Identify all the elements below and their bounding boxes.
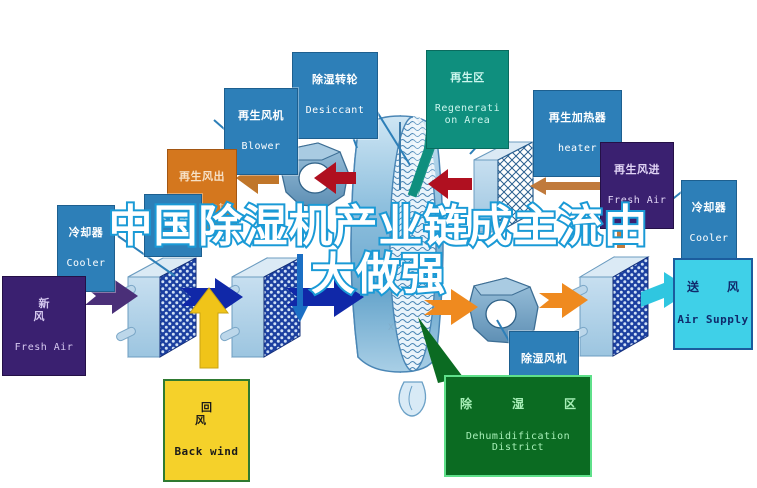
label-regen-fresh-air-cn: 再生风进 xyxy=(601,164,673,177)
label-regen-area-cn: 再生区 xyxy=(427,72,508,85)
cooler-unit-mid xyxy=(219,258,300,357)
label-fresh-air-in[interactable]: 新 风 Fresh Air xyxy=(2,276,86,376)
svg-text:xt: xt xyxy=(388,319,398,333)
label-cooler-right-en: Cooler xyxy=(682,233,736,245)
label-cooler-mid[interactable]: 冷却器 xyxy=(144,194,202,257)
label-dehum-blower-cn: 除湿风机 xyxy=(510,353,578,366)
label-fresh-air-in-cn: 新 风 xyxy=(3,298,85,323)
cooler-unit-right xyxy=(567,257,648,356)
label-cooler-right-cn: 冷却器 xyxy=(682,202,736,215)
label-back-wind[interactable]: 回 风 Back wind xyxy=(163,379,250,482)
label-fresh-air-in-en: Fresh Air xyxy=(3,342,85,354)
label-cooler-right[interactable]: 冷却器 Cooler xyxy=(681,180,737,267)
label-regen-fresh-air[interactable]: 再生风进 Fresh Air xyxy=(600,142,674,229)
label-desiccant-rotor[interactable]: 除湿转轮 Desiccant xyxy=(292,52,378,139)
label-dehum-district-cn: 除 湿 区 xyxy=(446,398,590,412)
label-dehum-district[interactable]: 除 湿 区 Dehumidification District xyxy=(444,375,592,477)
label-regen-heater-cn: 再生加热器 xyxy=(534,112,621,125)
label-desiccant-rotor-cn: 除湿转轮 xyxy=(293,74,377,87)
regen-heater-unit xyxy=(474,142,533,232)
label-air-supply-cn: 送 风 xyxy=(675,281,751,295)
label-regen-area-en: Regenerati on Area xyxy=(427,103,508,126)
label-air-supply[interactable]: 送 风 Air Supply xyxy=(673,258,753,350)
diagram-canvas: xt xyxy=(0,0,757,488)
label-desiccant-rotor-en: Desiccant xyxy=(293,105,377,117)
label-regen-blower-cn: 再生风机 xyxy=(225,110,297,123)
cooler-unit-left xyxy=(115,258,196,357)
label-regen-fresh-air-en: Fresh Air xyxy=(601,195,673,207)
label-dehum-district-en: Dehumidification District xyxy=(446,431,590,454)
label-regen-exhaust-cn: 再生风出 xyxy=(168,171,236,184)
label-air-supply-en: Air Supply xyxy=(675,314,751,327)
label-back-wind-cn: 回 风 xyxy=(165,402,248,427)
label-cooler-left-cn: 冷却器 xyxy=(58,227,114,240)
label-cooler-left-en: Cooler xyxy=(58,258,114,270)
label-back-wind-en: Back wind xyxy=(165,446,248,459)
label-cooler-mid-cn: 冷却器 xyxy=(145,216,201,229)
label-regen-area[interactable]: 再生区 Regenerati on Area xyxy=(426,50,509,149)
